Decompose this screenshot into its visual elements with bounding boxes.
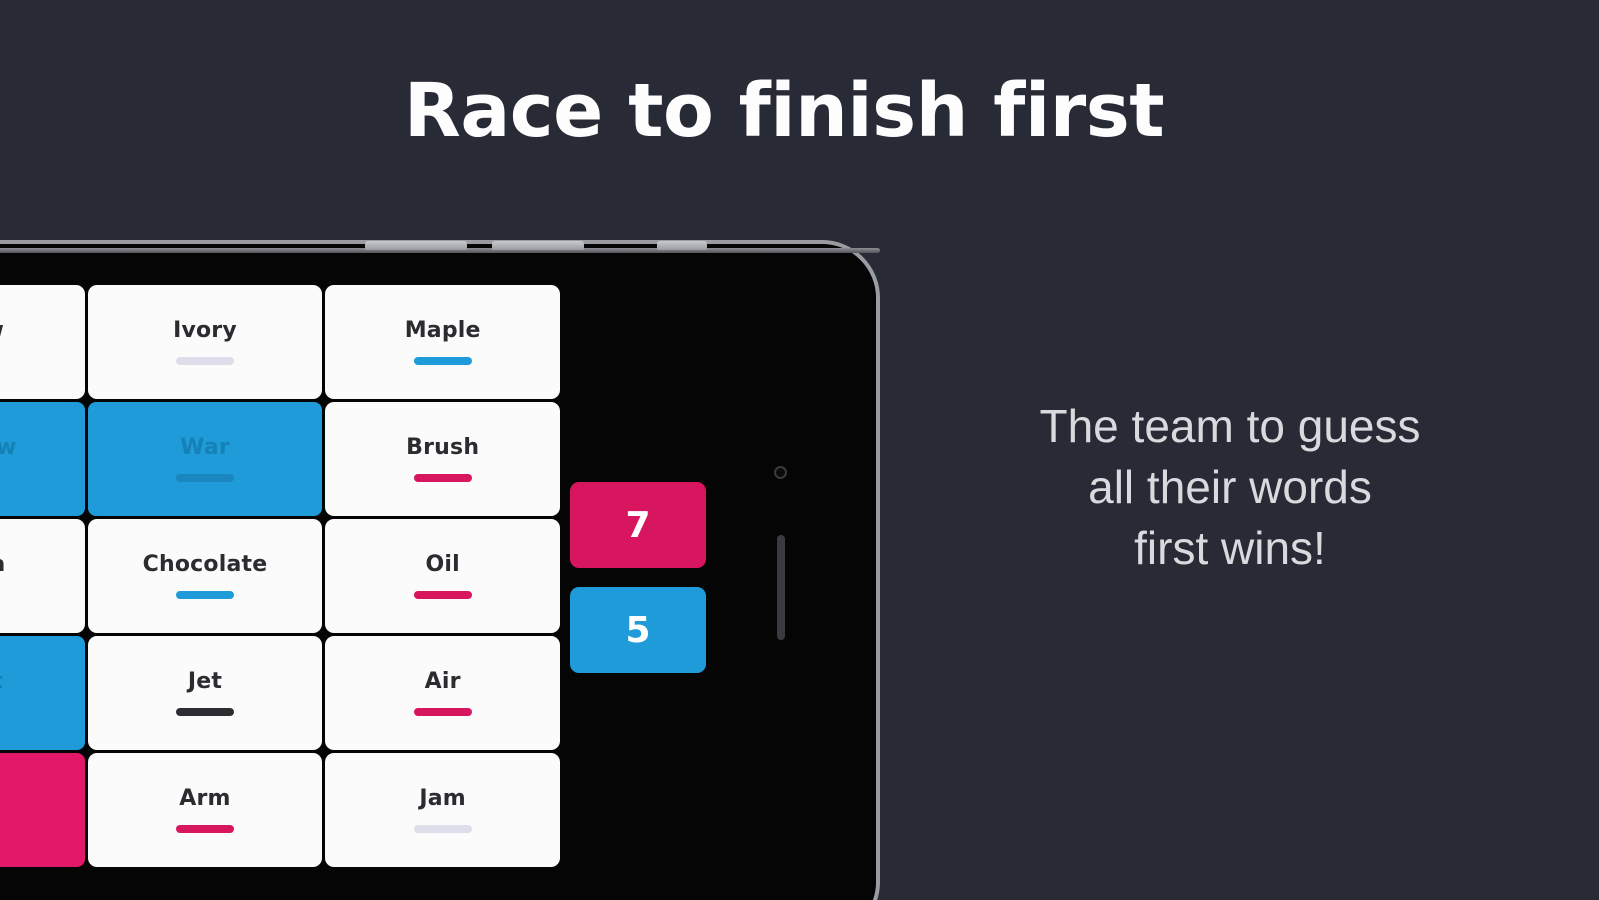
caption-text: The team to guess all their words first … [960, 396, 1500, 579]
phone-side-button[interactable] [657, 241, 707, 250]
word-card-label: Chocolate [143, 554, 268, 576]
word-card-team-bar [176, 474, 234, 482]
word-card-team-bar [176, 591, 234, 599]
score-badge-red: 7 [570, 482, 706, 568]
word-card-team-bar [414, 357, 472, 365]
word-card[interactable]: Chest [0, 636, 85, 750]
phone-side-button[interactable] [492, 241, 584, 250]
word-card[interactable]: Chair [0, 753, 85, 867]
word-card-team-bar [414, 474, 472, 482]
word-card[interactable]: Oil [325, 519, 560, 633]
promo-screen: Race to finish first StrawIvoryMapleShad… [0, 0, 1599, 900]
word-card-label: Arm [179, 788, 230, 810]
word-card[interactable]: Chocolate [88, 519, 323, 633]
word-card-team-bar [176, 357, 234, 365]
camera-dot-icon [774, 466, 787, 479]
word-card[interactable]: Shadow [0, 402, 85, 516]
word-card[interactable]: Brush [325, 402, 560, 516]
caption-line-2: all their words [960, 457, 1500, 518]
page-title: Race to finish first [0, 68, 1568, 154]
word-card-label: Oil [425, 554, 459, 576]
word-card-team-bar [414, 591, 472, 599]
word-card[interactable]: Jet [88, 636, 323, 750]
word-card-label: Ivory [173, 320, 237, 342]
word-card-label: War [180, 437, 230, 459]
word-card[interactable]: Straw [0, 285, 85, 399]
word-card[interactable]: Maple [325, 285, 560, 399]
word-card-label: Chest [0, 671, 3, 693]
phone-side-button[interactable] [365, 241, 467, 250]
word-card[interactable]: Jam [325, 753, 560, 867]
vertical-scrollbar[interactable] [777, 535, 785, 640]
word-card[interactable]: War [88, 402, 323, 516]
word-card-label: Brush [406, 437, 479, 459]
word-card-team-bar [414, 825, 472, 833]
word-card-team-bar [176, 825, 234, 833]
word-card[interactable]: Arm [88, 753, 323, 867]
word-card-team-bar [414, 708, 472, 716]
word-card-label: Jet [188, 671, 222, 693]
word-card-team-bar [176, 708, 234, 716]
word-card-label: Scuba [0, 554, 5, 576]
word-card-label: Jam [419, 788, 466, 810]
word-card-label: Maple [405, 320, 481, 342]
word-card[interactable]: Ivory [88, 285, 323, 399]
word-card-label: Shadow [0, 437, 17, 459]
word-card-label: Air [425, 671, 461, 693]
score-badge-blue: 5 [570, 587, 706, 673]
word-card[interactable]: Air [325, 636, 560, 750]
caption-line-1: The team to guess [960, 396, 1500, 457]
word-card-label: Straw [0, 320, 4, 342]
caption-line-3: first wins! [960, 518, 1500, 579]
word-card[interactable]: Scuba [0, 519, 85, 633]
word-card-grid: StrawIvoryMapleShadowWarBrushScubaChocol… [0, 285, 560, 867]
